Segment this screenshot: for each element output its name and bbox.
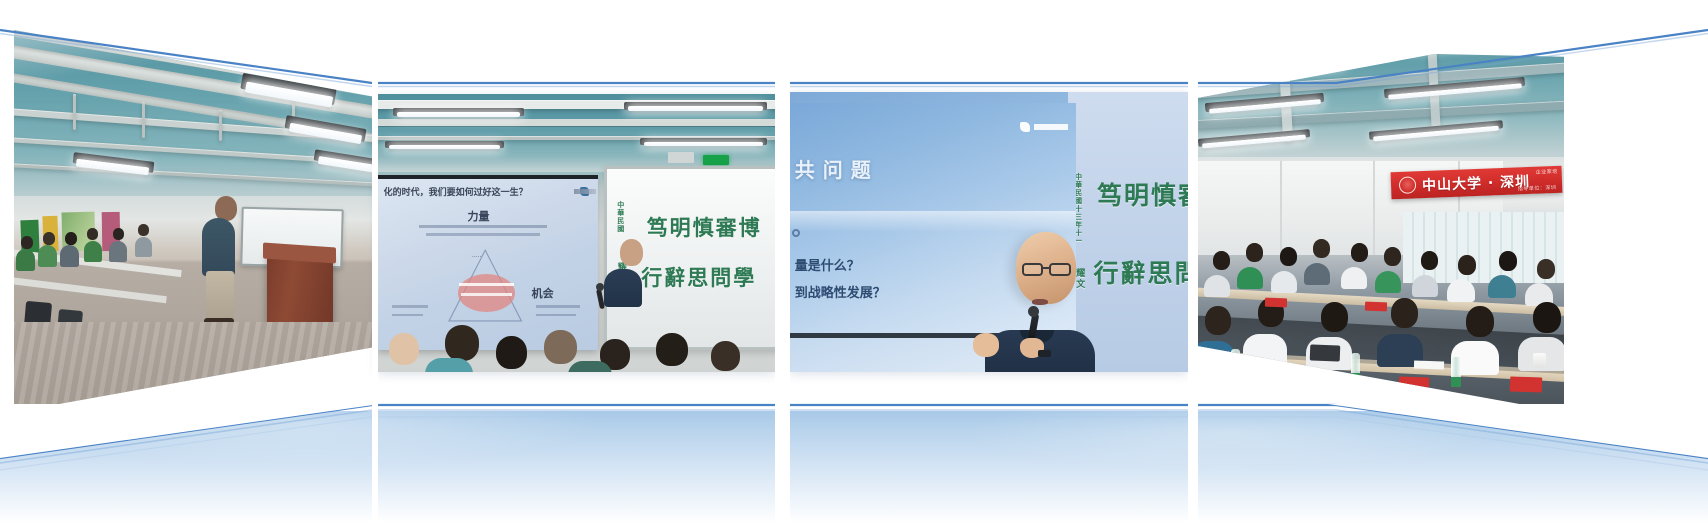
calligraphy-line-2: 行辭思問學	[1093, 254, 1188, 290]
ceiling-cable-tray	[377, 119, 775, 126]
audience-head	[138, 224, 149, 236]
calligraphy-wall: 中華民國十三年十一 耀文 笃明慎審博 行辭思問學	[1068, 92, 1188, 372]
audience-head	[1384, 247, 1401, 266]
audience-body	[1198, 341, 1235, 373]
audience-body	[1243, 334, 1287, 366]
audience-head	[1213, 251, 1230, 270]
bottle-label	[1231, 369, 1240, 378]
foreground-head	[389, 333, 419, 365]
foreground-shoulders	[425, 358, 473, 372]
glasses-svg	[1022, 263, 1072, 276]
foreground-head	[496, 336, 527, 369]
name-plate	[1399, 376, 1429, 391]
ceiling-hanger-3	[219, 110, 222, 141]
slide-heading-left: 力量	[468, 208, 490, 224]
audience-body	[1375, 271, 1401, 293]
speaker-head	[620, 239, 643, 266]
calligraphy-line-1: 笃明慎審博	[1097, 176, 1188, 212]
foreground-shoulders	[568, 361, 612, 372]
bottle-label	[1451, 377, 1461, 387]
calligraphy-line-2: 行辭思問學	[641, 262, 756, 292]
name-plate-back	[1265, 298, 1287, 308]
ceiling-hanger-2	[142, 102, 145, 137]
audience-head	[1458, 255, 1476, 275]
slide-paragraph	[426, 233, 541, 236]
audience-body	[1488, 275, 1516, 298]
ceiling-light-1	[397, 112, 520, 117]
presenter-trousers	[206, 271, 234, 321]
paper-stack	[1414, 360, 1444, 369]
water-bottle	[1231, 349, 1240, 371]
audience-head	[1421, 251, 1438, 270]
speaker-body	[604, 269, 642, 307]
microphone-head-icon	[1028, 306, 1039, 317]
slide-bullet-2: 到战略性发展？	[795, 282, 886, 301]
gallery-stage: 化的时代，我们要如何过好这一生？ 力量 机会	[0, 0, 1708, 523]
photo-panel-center-2[interactable]: 中華民國十三年十一 耀文 笃明慎審博 行辭思問學 共问题 量是什么？ 到战略性发…	[789, 92, 1188, 372]
university-seal-icon	[1399, 176, 1417, 194]
light-cable	[1287, 32, 1289, 67]
audience-body	[109, 241, 127, 262]
gutter-mid	[775, 0, 790, 523]
slide-note-left	[392, 314, 423, 317]
foreground-head	[656, 333, 688, 366]
audience-head	[87, 228, 98, 240]
calligraphy-line-1: 笃明慎審博	[647, 212, 762, 242]
audience-body	[135, 237, 152, 257]
blind-seam	[1373, 161, 1375, 255]
audience-head	[21, 236, 33, 249]
audience-body	[1204, 275, 1230, 297]
reflection-plate	[0, 411, 1708, 523]
audience-head	[1321, 302, 1348, 332]
slide-note-left	[392, 305, 427, 308]
slide-bullet-1: 量是什么？	[795, 255, 860, 274]
slide-title: 化的时代，我们要如何过好这一生？	[384, 185, 528, 198]
audience-head	[1351, 243, 1368, 262]
bottle-label	[1351, 373, 1360, 382]
microphone-head-icon	[596, 283, 604, 291]
slide-logo-icon	[1020, 122, 1030, 132]
speaker-mouth	[1032, 299, 1048, 305]
laptop	[1309, 345, 1340, 362]
audience-body	[1271, 271, 1297, 293]
slide-logo-text	[574, 189, 596, 194]
audience-head	[65, 232, 77, 245]
pendant-light-housing-1	[1220, 54, 1347, 74]
slide-title: 共问题	[795, 154, 879, 183]
audience-body	[1304, 263, 1330, 285]
foreground-head	[445, 325, 479, 361]
gutter-left	[372, 0, 378, 523]
photo-panel-left[interactable]	[14, 16, 380, 408]
audience-body	[1341, 267, 1367, 289]
ceiling-light-2	[628, 106, 763, 111]
wristwatch-icon	[1038, 350, 1051, 357]
university-banner: 中山大学 · 深圳 企业家培 指导单位：深圳	[1391, 166, 1563, 200]
ceiling-light-4	[644, 142, 763, 146]
photo-center-2-image: 中華民國十三年十一 耀文 笃明慎審博 行辭思問學 共问题 量是什么？ 到战略性发…	[789, 92, 1188, 372]
audience-head	[1391, 298, 1418, 328]
ceiling-hanger-1	[73, 94, 76, 129]
audience-head	[43, 232, 55, 245]
audience-body	[60, 245, 79, 267]
slide-logo-text	[1034, 124, 1068, 130]
audience-body	[38, 245, 57, 267]
banner-bottom-note: 指导单位：深圳	[1518, 184, 1557, 192]
name-plate-back	[1365, 302, 1387, 312]
audience-body	[1237, 267, 1263, 289]
photo-right-image: 中山大学 · 深圳 企业家培 指导单位：深圳	[1198, 16, 1570, 408]
audience-head	[1466, 306, 1494, 337]
foreground-head	[711, 341, 740, 371]
gutter-right	[1188, 0, 1198, 523]
foreground-head	[544, 330, 577, 364]
audience-head	[1313, 239, 1330, 258]
presenter-body	[202, 218, 235, 276]
speaker-glasses-icon	[1022, 263, 1072, 276]
audience-head	[1537, 259, 1555, 279]
slide-note-right	[536, 314, 576, 317]
blind-seam	[1280, 161, 1282, 255]
light-cable	[1458, 20, 1460, 47]
carpet	[14, 322, 380, 408]
paper-cup	[1533, 353, 1546, 368]
pendant-light-1	[1224, 60, 1343, 76]
screen-glare	[789, 211, 1076, 232]
audience-desk-row-2	[14, 276, 168, 303]
audience-head	[113, 228, 124, 240]
speaker-hand-left	[973, 333, 999, 357]
photo-left-image	[14, 16, 380, 408]
banner-text: 中山大学 · 深圳	[1422, 170, 1531, 194]
audience-head	[1280, 247, 1297, 266]
presentation-screen: 化的时代，我们要如何过好这一生？ 力量 机会	[377, 175, 598, 350]
audience-head	[1246, 243, 1263, 262]
audience-body	[16, 249, 35, 271]
calligraphy-vertical-small: 中華民國	[618, 201, 625, 233]
name-plate	[1510, 376, 1543, 392]
audience-body	[84, 241, 102, 262]
slide-circle-label	[461, 293, 512, 296]
photo-panel-right[interactable]: 中山大学 · 深圳 企业家培 指导单位：深圳	[1198, 16, 1570, 408]
exit-sign	[703, 155, 729, 165]
slide-bullet-marker	[792, 229, 800, 237]
exit-sign-box	[668, 152, 694, 163]
audience-body	[1412, 275, 1438, 297]
slide-note-right	[536, 305, 580, 308]
slide-paragraph	[419, 225, 547, 228]
slide-circle-label	[459, 283, 514, 286]
name-plate	[1202, 368, 1229, 382]
audience-head	[1205, 306, 1231, 335]
slide-apex-label: ·····	[472, 254, 482, 261]
audience-head	[1499, 251, 1517, 271]
ceiling-light-3	[389, 145, 500, 149]
photo-panel-center-1[interactable]: 化的时代，我们要如何过好这一生？ 力量 机会	[377, 94, 775, 372]
name-plate	[1294, 372, 1324, 387]
calligraphy-vertical-small: 中華民國十三年十一	[1075, 173, 1082, 245]
banner-top-note: 企业家培	[1536, 168, 1558, 176]
audience-head	[1533, 302, 1561, 333]
photo-center-1-image: 化的时代，我们要如何过好这一生？ 力量 机会	[377, 94, 775, 372]
